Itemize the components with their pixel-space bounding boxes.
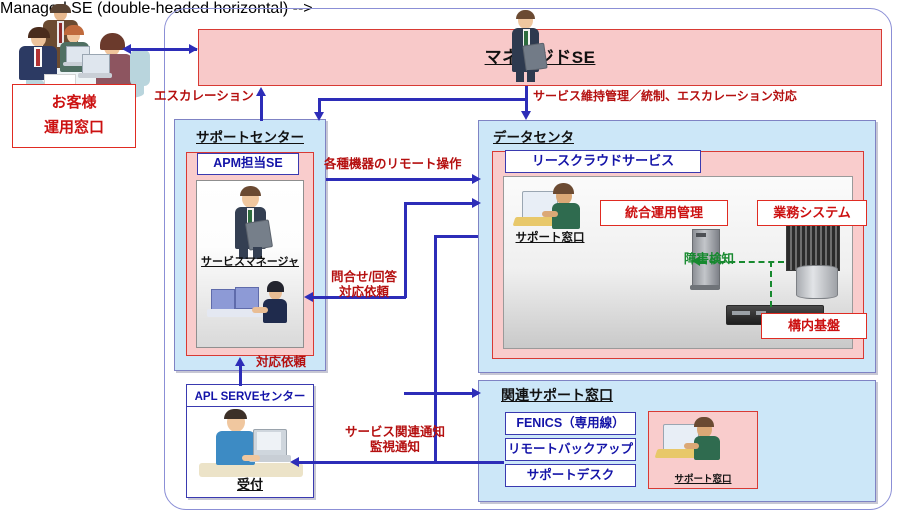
connector-customer-arrowhead bbox=[122, 44, 131, 54]
service-notice-arrowhead bbox=[290, 457, 299, 467]
apl-serve-center-tag-label: APL SERVEセンター bbox=[195, 388, 306, 404]
service-notice-label-line2: 監視通知 bbox=[335, 440, 455, 455]
remote-operation-line bbox=[326, 178, 478, 181]
service-manager-illustration-panel: サービスマネージャ bbox=[196, 180, 304, 348]
service-notice-label-line1: サービス関連通知 bbox=[335, 425, 455, 440]
managedse-to-support-arrowhead bbox=[314, 112, 324, 121]
escalation-label: エスカレーション bbox=[154, 89, 254, 104]
related-support-item-label-2: サポートデスク bbox=[527, 468, 615, 484]
data-center-support-desk-caption: サポート窓口 bbox=[510, 229, 590, 245]
managedse-to-support-horizontal bbox=[318, 98, 527, 101]
related-support-inbound-arrowhead bbox=[472, 388, 481, 398]
data-center-title: データセンタ bbox=[493, 126, 574, 146]
apm-tag-label: APM担当SE bbox=[213, 156, 282, 172]
fault-detection-dashed-vertical bbox=[770, 261, 772, 307]
premises-platform-label: 構内基盤 bbox=[788, 318, 840, 334]
inquiry-line-top bbox=[404, 202, 478, 205]
apl-serve-center-tag: APL SERVEセンター bbox=[187, 385, 313, 407]
inquiry-label-line1: 問合せ/回答 bbox=[326, 270, 402, 285]
business-system-badge: 業務システム bbox=[757, 200, 867, 226]
response-request-vertical bbox=[239, 366, 242, 386]
inquiry-bottom-arrowhead bbox=[304, 292, 313, 302]
connector-customer-managedse-line bbox=[131, 48, 197, 51]
customer-box: お客様 運用窓口 bbox=[12, 84, 136, 148]
support-center-title: サポートセンター bbox=[175, 126, 325, 146]
related-support-branch-line bbox=[434, 461, 504, 464]
service-management-label: サービス維持管理／統制、エスカレーション対応 bbox=[533, 89, 797, 103]
related-support-inbound-line bbox=[404, 392, 478, 395]
related-support-photo-caption: サポート窓口 bbox=[649, 471, 757, 485]
managed-se-person-icon bbox=[508, 10, 542, 82]
customer-label-line2: 運用窓口 bbox=[44, 119, 104, 138]
apm-tag: APM担当SE bbox=[197, 153, 299, 175]
lease-cloud-service-tag: リースクラウドサービス bbox=[505, 150, 701, 173]
related-support-item-label-1: リモートバックアップ bbox=[508, 442, 633, 458]
related-support-item-label-0: FENICS（専用線） bbox=[516, 416, 624, 432]
service-manager-caption: サービスマネージャ bbox=[197, 253, 303, 269]
apl-serve-center-panel: APL SERVEセンター 受付 bbox=[186, 384, 314, 498]
fault-detection-label: 障害検知 bbox=[684, 252, 734, 267]
response-request-label: 対応依頼 bbox=[256, 355, 306, 370]
related-support-item-support-desk: サポートデスク bbox=[505, 464, 636, 487]
integrated-ops-label: 統合運用管理 bbox=[625, 205, 703, 221]
apl-reception-caption: 受付 bbox=[187, 474, 313, 493]
remote-operation-arrowhead bbox=[472, 174, 481, 184]
related-support-photo: サポート窓口 bbox=[648, 411, 758, 489]
related-support-title: 関連サポート窓口 bbox=[501, 385, 613, 405]
related-support-item-fenics: FENICS（専用線） bbox=[505, 412, 636, 435]
escalation-arrowhead bbox=[256, 87, 266, 96]
remote-operation-label: 各種機器のリモート操作 bbox=[324, 157, 462, 172]
managedse-to-datacenter-arrowhead bbox=[521, 111, 531, 120]
response-request-arrowhead bbox=[235, 357, 245, 366]
inquiry-label: 問合せ/回答 対応依頼 bbox=[326, 270, 402, 300]
connector-managedse-arrowhead bbox=[189, 44, 198, 54]
service-notice-label: サービス関連通知 監視通知 bbox=[335, 425, 455, 455]
related-support-item-remote-backup: リモートバックアップ bbox=[505, 438, 636, 461]
escalation-line-vertical bbox=[260, 96, 263, 121]
customer-label-line1: お客様 bbox=[51, 94, 96, 113]
inquiry-label-line2: 対応依頼 bbox=[326, 285, 402, 300]
lease-cloud-service-label: リースクラウドサービス bbox=[532, 153, 674, 169]
inquiry-top-arrowhead bbox=[472, 198, 481, 208]
business-system-label: 業務システム bbox=[773, 205, 851, 221]
service-notice-top bbox=[434, 235, 478, 238]
integrated-ops-badge: 統合運用管理 bbox=[600, 200, 728, 226]
inquiry-line-vertical bbox=[404, 202, 407, 298]
diagram-canvas: お客様 運用窓口 マネージドSE サポートセンター APM担当SE サービスマネ… bbox=[0, 0, 900, 520]
managedse-to-support-drop bbox=[318, 98, 321, 113]
premises-platform-badge: 構内基盤 bbox=[761, 313, 867, 339]
managedse-to-datacenter-vertical bbox=[525, 86, 528, 113]
